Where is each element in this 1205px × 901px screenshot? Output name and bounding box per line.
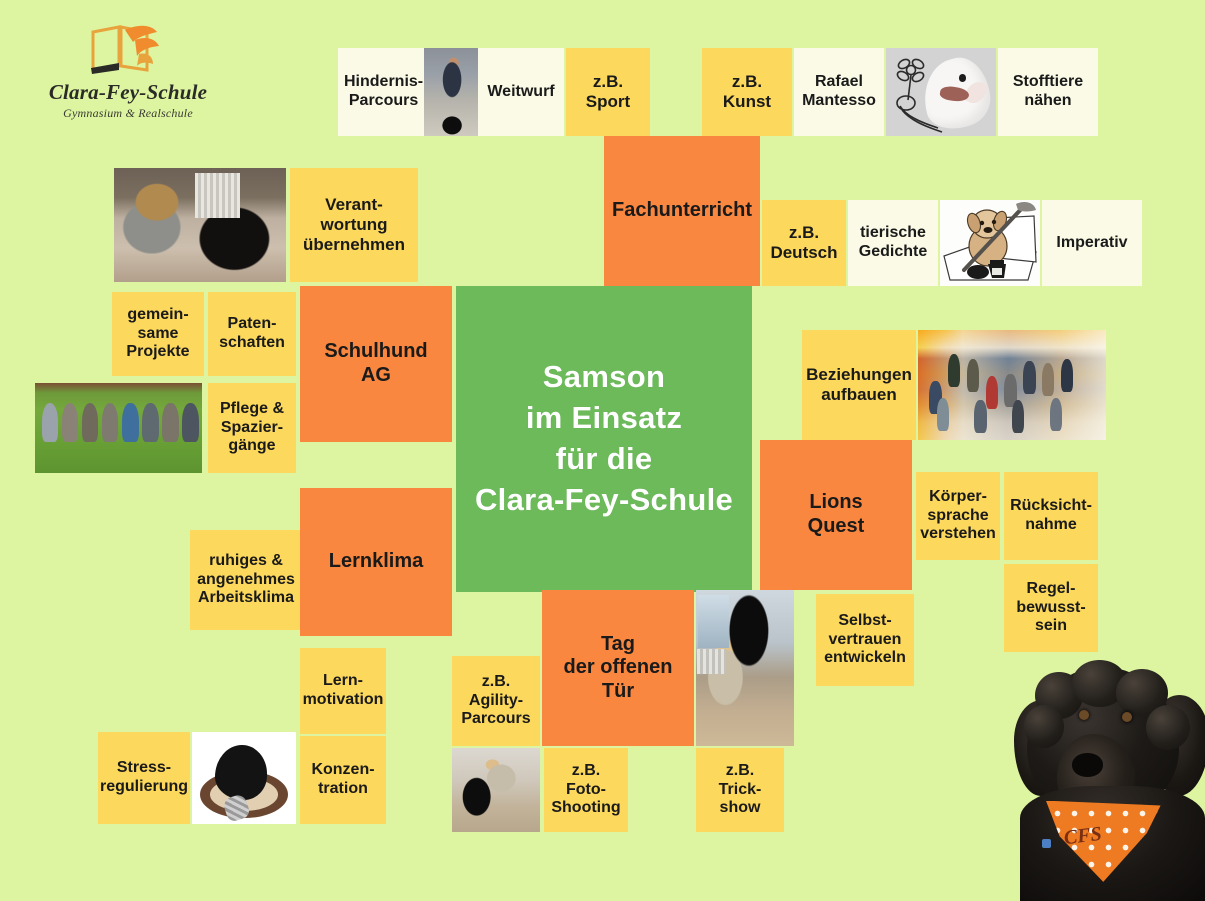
leaf-tierische-gedichte[interactable]: tierische Gedichte: [848, 200, 938, 286]
photo-mantesso-bullterrier: [886, 48, 996, 136]
node-kunst[interactable]: z.B. Kunst: [702, 48, 792, 136]
node-koerpersprache-verstehen[interactable]: Körper- sprache verstehen: [916, 472, 1000, 560]
photo-quill-dog: [940, 200, 1040, 286]
node-arbeitsklima[interactable]: ruhiges & angenehmes Arbeitsklima: [190, 530, 302, 630]
open-book-icon: [85, 20, 171, 76]
leaf-imperativ[interactable]: Imperativ: [1042, 200, 1142, 286]
photo-girl-with-dog: [114, 168, 286, 282]
node-pflege-spaziergaenge[interactable]: Pflege & Spazier- gänge: [208, 383, 296, 473]
node-lernmotivation[interactable]: Lern- motivation: [300, 648, 386, 734]
node-patenschaften[interactable]: Paten- schaften: [208, 292, 296, 376]
branch-lernklima[interactable]: Lernklima: [300, 488, 452, 636]
leaf-weitwurf[interactable]: Weitwurf: [478, 48, 564, 136]
node-selbstvertrauen-entwickeln[interactable]: Selbst- vertrauen entwickeln: [816, 594, 914, 686]
node-agility-parcours[interactable]: z.B. Agility- Parcours: [452, 656, 540, 746]
leaf-rafael-mantesso[interactable]: Rafael Mantesso: [794, 48, 884, 136]
node-sport[interactable]: z.B. Sport: [566, 48, 650, 136]
logo-school-subtitle: Gymnasium & Realschule: [18, 106, 238, 121]
node-deutsch[interactable]: z.B. Deutsch: [762, 200, 846, 286]
branch-schulhund-ag[interactable]: Schulhund AG: [300, 286, 452, 442]
node-gemeinsame-projekte[interactable]: gemein- same Projekte: [112, 292, 204, 376]
photo-agility: [452, 748, 540, 832]
bandana-monogram: CFS: [1063, 822, 1103, 849]
photo-dog-in-bed: [192, 732, 296, 824]
photo-weitwurf: [424, 48, 478, 136]
photo-kids-on-grass: [35, 383, 202, 473]
node-foto-shooting[interactable]: z.B. Foto- Shooting: [544, 748, 628, 832]
logo-school-name: Clara-Fey-Schule: [18, 80, 238, 105]
node-beziehungen-aufbauen[interactable]: Beziehungen aufbauen: [802, 330, 916, 440]
branch-lions-quest[interactable]: Lions Quest: [760, 440, 912, 590]
samson-bandana: [1046, 801, 1161, 882]
center-title: Samson im Einsatz für die Clara-Fey-Schu…: [456, 286, 752, 592]
leaf-stofftiere-naehen[interactable]: Stofftiere nähen: [998, 48, 1098, 136]
node-trickshow[interactable]: z.B. Trick- show: [696, 748, 784, 832]
node-stressregulierung[interactable]: Stress- regulierung: [98, 732, 190, 824]
node-konzentration[interactable]: Konzen- tration: [300, 736, 386, 824]
photo-class-group: [918, 330, 1106, 440]
node-ruecksichtnahme[interactable]: Rücksicht- nahme: [1004, 472, 1098, 560]
poster-canvas: Clara-Fey-Schule Gymnasium & Realschule …: [0, 0, 1205, 901]
collar-tag: [1042, 839, 1051, 849]
branch-fachunterricht[interactable]: Fachunterricht: [604, 136, 760, 286]
photo-boy-crawling-with-dog: [696, 590, 794, 746]
node-verantwortung-uebernehmen[interactable]: Verant- wortung übernehmen: [290, 168, 418, 282]
branch-tag-der-offenen-tuer[interactable]: Tag der offenen Tür: [542, 590, 694, 746]
photo-samson-portrait: CFS: [1020, 662, 1205, 901]
node-regelbewusstsein[interactable]: Regel- bewusst- sein: [1004, 564, 1098, 652]
school-logo: Clara-Fey-Schule Gymnasium & Realschule: [18, 20, 238, 121]
